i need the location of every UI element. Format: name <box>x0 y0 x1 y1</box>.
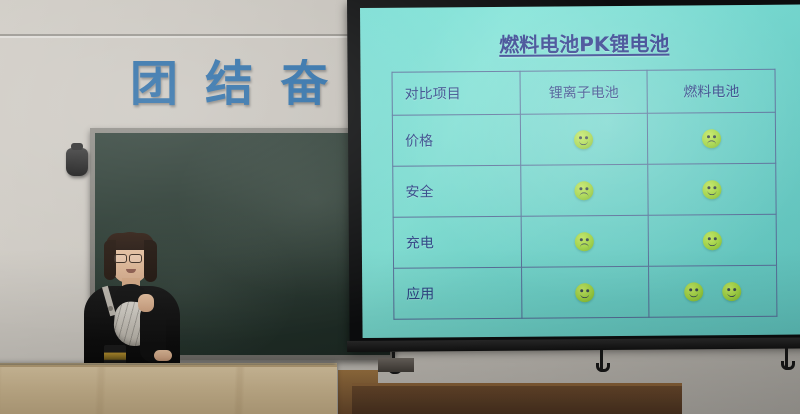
scene-vignette <box>0 0 800 414</box>
classroom-screenshot: 团 结 奋 燃料电池PK锂电池 对比项目 <box>0 0 800 414</box>
